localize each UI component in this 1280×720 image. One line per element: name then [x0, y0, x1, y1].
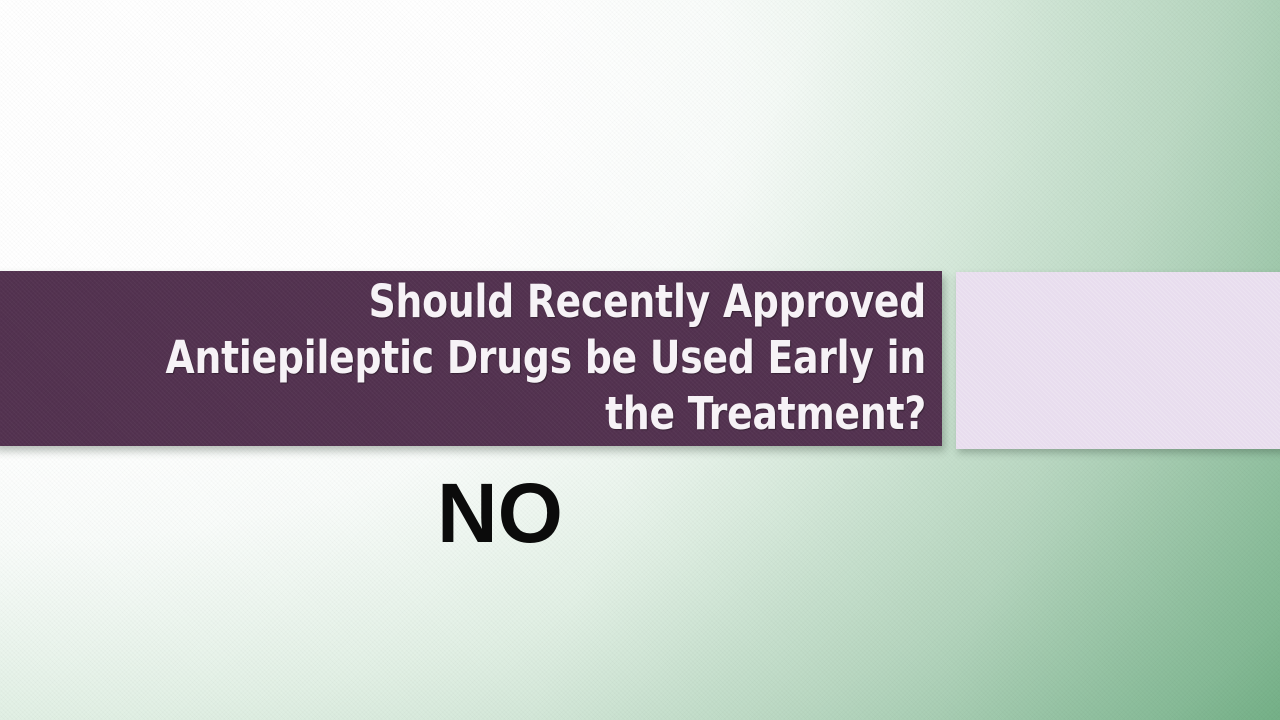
title-band[interactable]: Should Recently Approved Antiepileptic D…	[0, 271, 942, 446]
presentation-slide: Should Recently Approved Antiepileptic D…	[0, 0, 1280, 720]
content-placeholder-panel[interactable]	[956, 272, 1280, 449]
slide-title-line-3: the Treatment?	[70, 386, 926, 442]
slide-body-answer: NO	[437, 471, 563, 555]
slide-title-line-1: Should Recently Approved	[70, 274, 926, 330]
content-placeholder-texture	[956, 272, 1280, 449]
slide-title-line-2: Antiepileptic Drugs be Used Early in	[70, 330, 926, 386]
slide-title: Should Recently Approved Antiepileptic D…	[70, 274, 926, 442]
